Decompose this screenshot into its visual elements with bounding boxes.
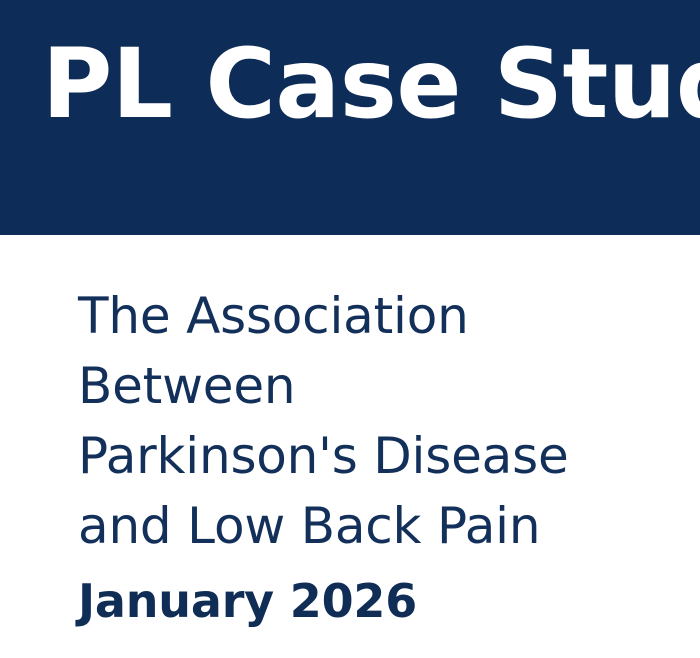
banner-title: PL Case Study	[42, 34, 700, 136]
subtitle-line-2: Between	[78, 351, 678, 421]
cover-body: The Association Between Parkinson's Dise…	[78, 281, 678, 629]
document-subtitle: The Association Between Parkinson's Dise…	[78, 281, 678, 561]
header-banner: PL Case Study	[0, 0, 700, 235]
subtitle-line-1: The Association	[78, 281, 678, 351]
case-study-cover-page: PL Case Study The Association Between Pa…	[0, 0, 700, 658]
subtitle-line-4: and Low Back Pain	[78, 491, 678, 561]
subtitle-line-3: Parkinson's Disease	[78, 421, 678, 491]
document-date: January 2026	[78, 561, 678, 629]
